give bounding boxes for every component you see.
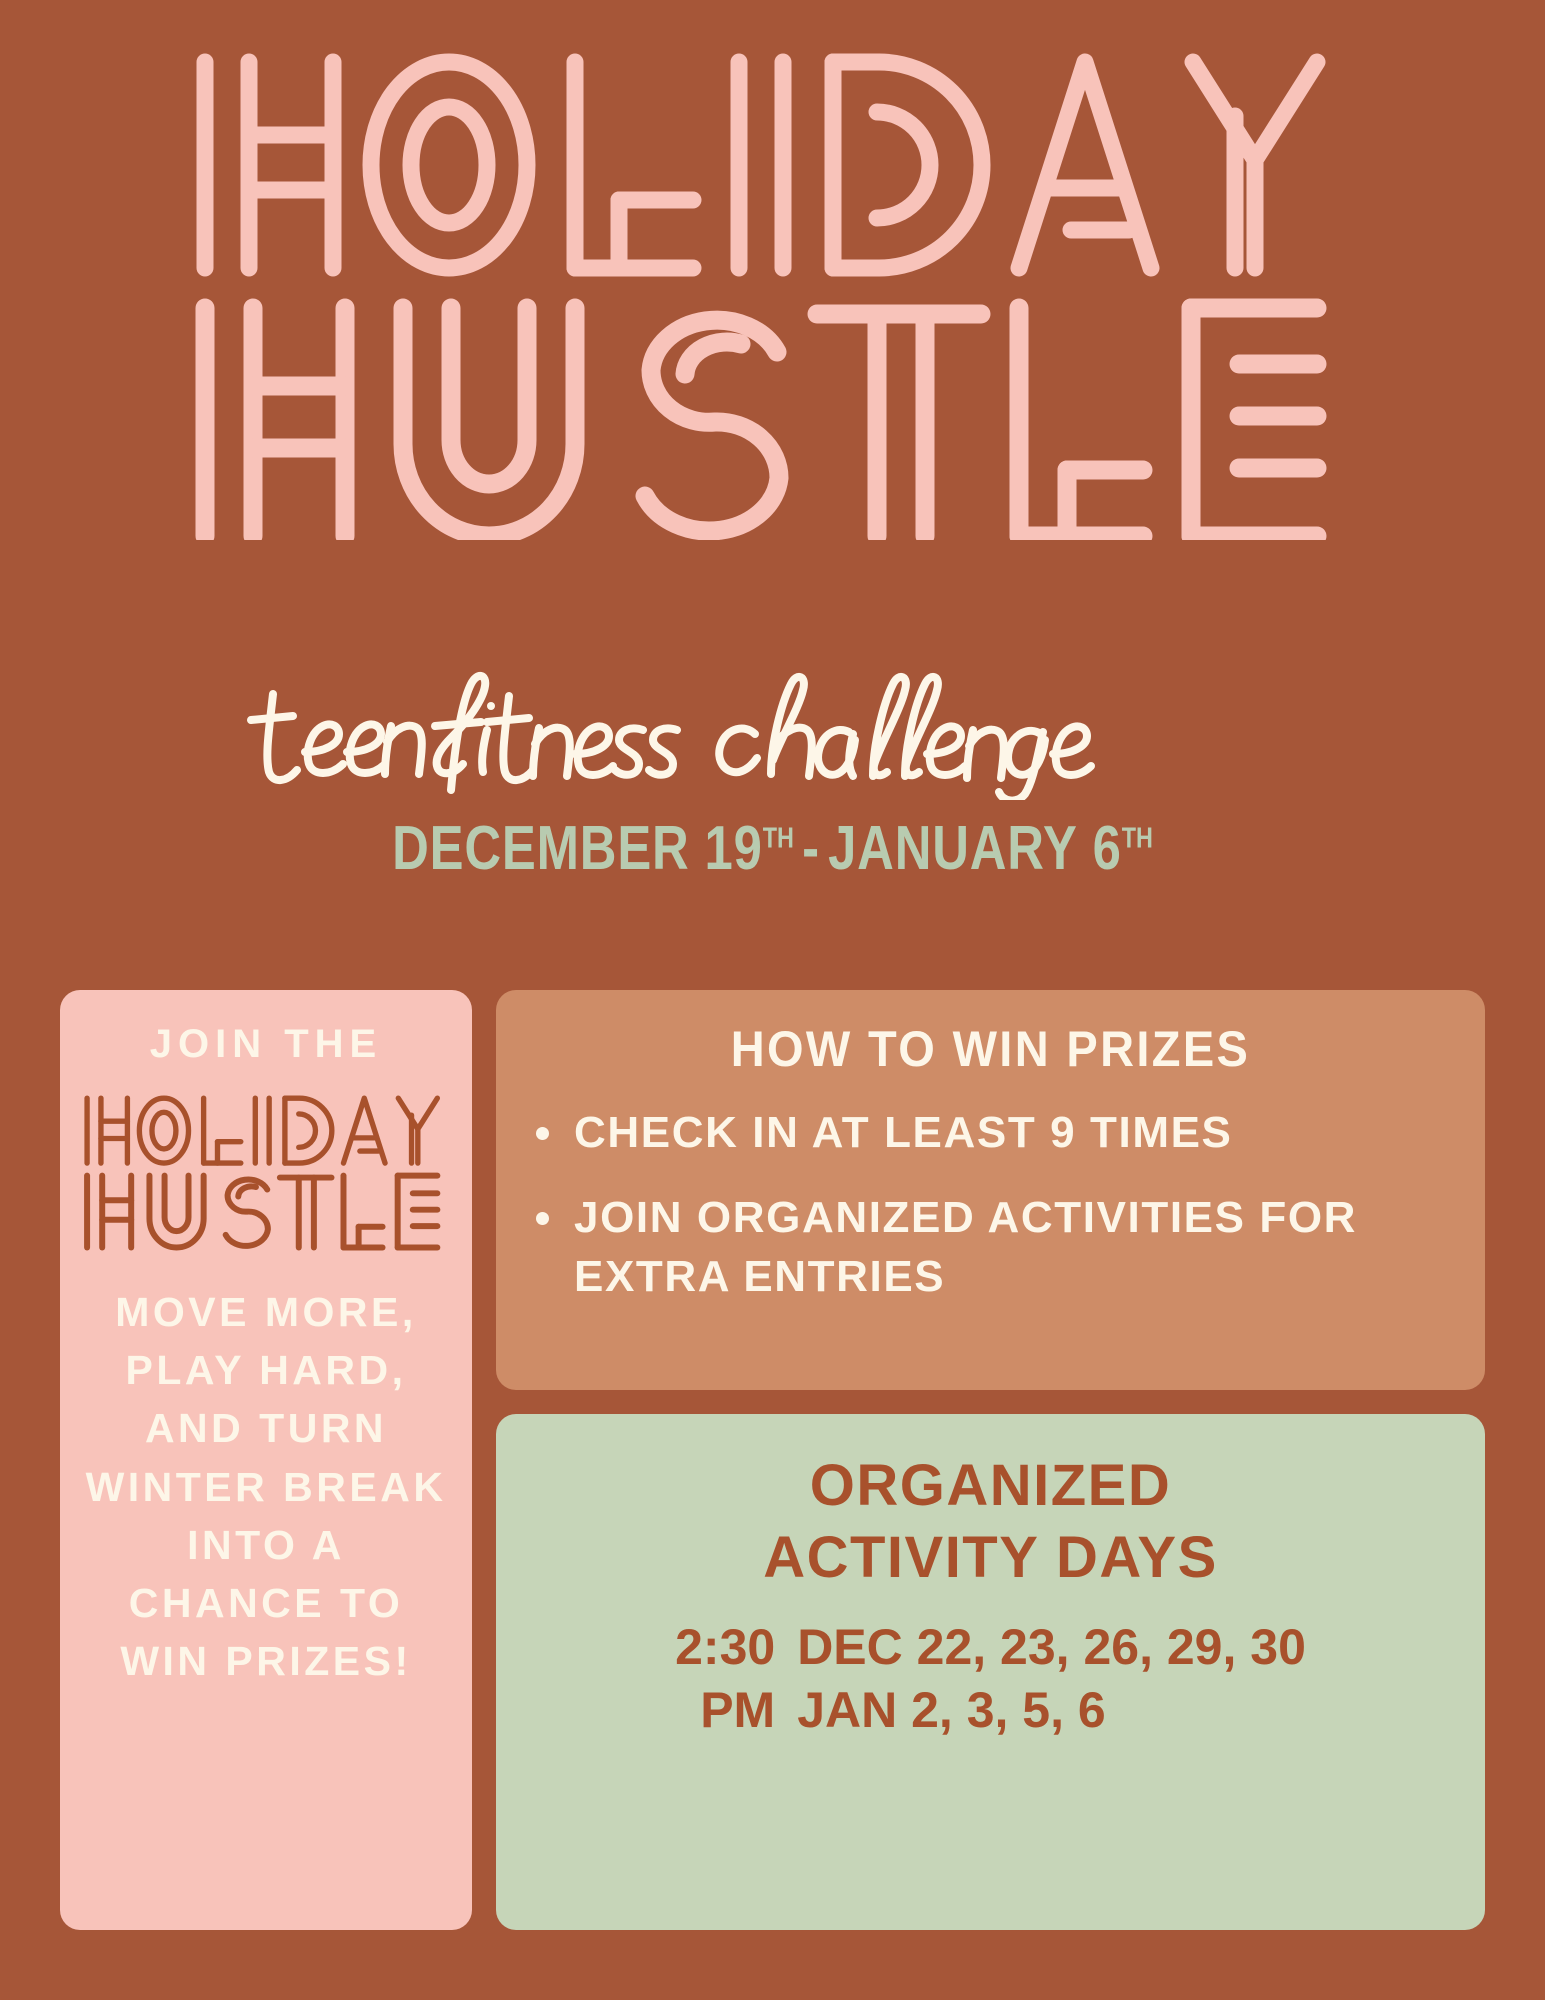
headline-holiday-hustle-logo bbox=[173, 40, 1373, 540]
pink-card-eyebrow: JOIN THE bbox=[150, 1022, 382, 1067]
green-title-line-2: ACTIVITY DAYS bbox=[530, 1522, 1451, 1594]
pink-body-line: WINTER BREAK bbox=[86, 1458, 447, 1516]
pink-body-line: WIN PRIZES! bbox=[86, 1632, 447, 1690]
tan-card-title: HOW TO WIN PRIZES bbox=[558, 1020, 1424, 1078]
poster-headline bbox=[0, 40, 1545, 540]
poster-canvas: DECEMBER 19TH-JANUARY 6TH JOIN THE bbox=[0, 0, 1545, 2000]
pink-body-line: CHANCE TO bbox=[86, 1574, 447, 1632]
card-how-to-win-prizes: HOW TO WIN PRIZES CHECK IN AT LEAST 9 TI… bbox=[496, 990, 1485, 1390]
bullet-dot-icon bbox=[536, 1127, 549, 1140]
bullet-text: CHECK IN AT LEAST 9 TIMES bbox=[574, 1108, 1232, 1157]
activity-schedule: 2:30 PM DEC 22, 23, 26, 29, 30 JAN 2, 3,… bbox=[530, 1616, 1451, 1742]
schedule-dates: DEC 22, 23, 26, 29, 30 JAN 2, 3, 5, 6 bbox=[797, 1616, 1306, 1742]
pink-card-body: MOVE MORE, PLAY HARD, AND TURN WINTER BR… bbox=[86, 1283, 447, 1691]
script-subtitle-svg bbox=[243, 660, 1303, 800]
date-end-month: JANUARY bbox=[828, 814, 1078, 883]
green-card-title: ORGANIZED ACTIVITY DAYS bbox=[530, 1450, 1451, 1594]
pink-body-line: AND TURN bbox=[86, 1399, 447, 1457]
event-date-range: DECEMBER 19TH-JANUARY 6TH bbox=[139, 818, 1406, 880]
date-end-day: 6 bbox=[1093, 814, 1122, 883]
card-organized-activity-days: ORGANIZED ACTIVITY DAYS 2:30 PM DEC 22, … bbox=[496, 1414, 1485, 1930]
tan-card-bullet-list: CHECK IN AT LEAST 9 TIMES JOIN ORGANIZED… bbox=[530, 1104, 1451, 1307]
date-dash: - bbox=[794, 814, 828, 883]
pink-body-line: MOVE MORE, bbox=[86, 1283, 447, 1341]
headline-script-subtitle bbox=[0, 660, 1545, 805]
bullet-dot-icon bbox=[536, 1212, 549, 1225]
pink-body-line: PLAY HARD, bbox=[86, 1341, 447, 1399]
bullet-text: JOIN ORGANIZED ACTIVITIES FOR EXTRA ENTR… bbox=[574, 1193, 1357, 1301]
green-title-line-1: ORGANIZED bbox=[530, 1450, 1451, 1522]
card-join-the-challenge: JOIN THE bbox=[60, 990, 472, 1930]
schedule-time: 2:30 PM bbox=[675, 1616, 775, 1742]
list-item: JOIN ORGANIZED ACTIVITIES FOR EXTRA ENTR… bbox=[530, 1189, 1451, 1307]
date-start-day: 19 bbox=[705, 814, 763, 883]
pink-card-holiday-hustle-logo bbox=[77, 1077, 455, 1263]
date-start-month: DECEMBER bbox=[392, 814, 690, 883]
date-start-ordinal: TH bbox=[763, 822, 794, 854]
info-card-grid: JOIN THE bbox=[60, 990, 1485, 1930]
pink-body-line: INTO A bbox=[86, 1516, 447, 1574]
list-item: CHECK IN AT LEAST 9 TIMES bbox=[530, 1104, 1451, 1163]
date-end-ordinal: TH bbox=[1122, 822, 1153, 854]
